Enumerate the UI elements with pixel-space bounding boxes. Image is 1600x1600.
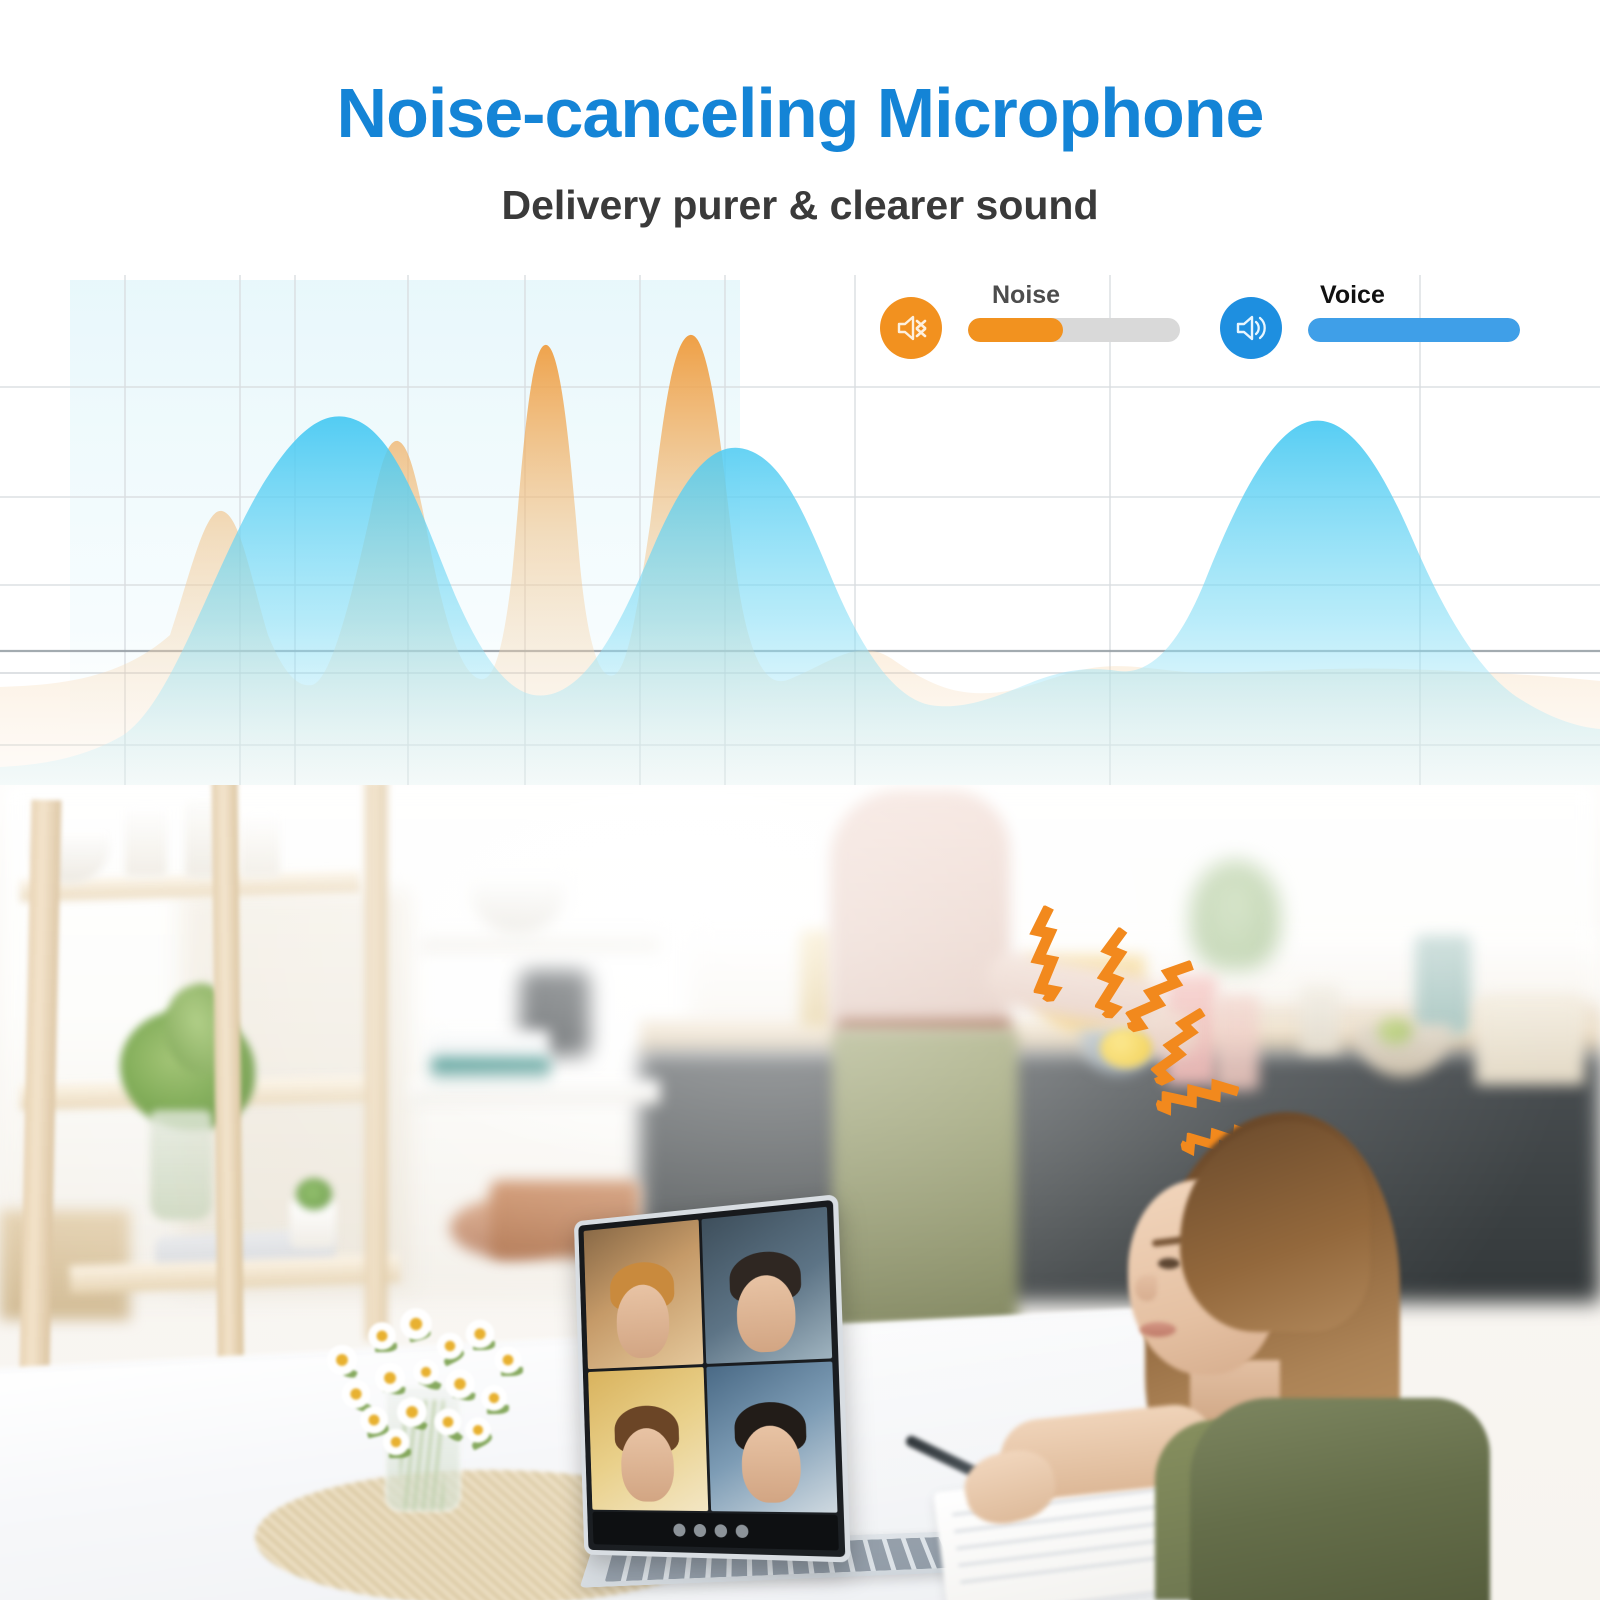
voice-meter: Voice xyxy=(1220,275,1530,375)
daisy-flower xyxy=(383,1429,409,1455)
daisy-flower xyxy=(327,1345,357,1375)
product-feature-banner: Noise-canceling Microphone Delivery pure… xyxy=(0,0,1600,1600)
daisy-flower xyxy=(465,1417,490,1442)
mic-toggle-icon[interactable] xyxy=(673,1523,685,1536)
daisy-flower xyxy=(466,1320,495,1349)
girl-eye xyxy=(1158,1258,1180,1269)
voice-label: Voice xyxy=(1320,283,1385,308)
daisy-flower xyxy=(368,1322,396,1350)
camera-toggle-icon[interactable] xyxy=(693,1523,706,1536)
plate-stack xyxy=(430,1030,550,1082)
voice-level-track[interactable] xyxy=(1308,318,1520,342)
daisy-flower xyxy=(445,1369,474,1398)
page-title: Noise-canceling Microphone xyxy=(0,78,1600,148)
white-shelf-upper xyxy=(420,930,660,952)
daisy-flower xyxy=(481,1385,507,1411)
bread-box xyxy=(1475,995,1585,1085)
laptop-screen[interactable] xyxy=(574,1194,851,1562)
noise-meter: Noise xyxy=(880,275,1190,375)
participants-icon[interactable] xyxy=(714,1524,727,1537)
background-plant xyxy=(1190,860,1280,970)
daisy-flower xyxy=(413,1359,439,1385)
daisy-flower xyxy=(495,1347,522,1374)
mini-plant xyxy=(296,1178,332,1210)
daisy-flower xyxy=(375,1363,405,1393)
white-cup xyxy=(125,805,167,877)
daisy-flower xyxy=(437,1333,463,1359)
call-participant-tile[interactable] xyxy=(706,1361,838,1513)
end-call-icon[interactable] xyxy=(735,1524,748,1537)
white-shelf-lower xyxy=(410,1080,660,1104)
green-fruit xyxy=(1378,1018,1412,1044)
noise-level-fill xyxy=(968,318,1063,342)
daisy-bouquet xyxy=(315,1305,530,1435)
shelf-plant-vase xyxy=(150,1110,212,1220)
voice-level-fill xyxy=(1308,318,1520,342)
call-participant-tile[interactable] xyxy=(701,1207,832,1364)
teal-jug xyxy=(1415,935,1471,1035)
white-jar-second xyxy=(240,812,280,878)
daisy-flower xyxy=(342,1380,371,1409)
shelf-post-right xyxy=(365,780,387,1340)
speaker-muted-icon xyxy=(880,297,942,359)
header-section: Noise-canceling Microphone Delivery pure… xyxy=(0,0,1600,275)
daisy-flower xyxy=(400,1308,432,1340)
oil-bottle xyxy=(800,930,834,1028)
noise-label: Noise xyxy=(992,283,1060,308)
call-control-bar xyxy=(592,1512,838,1551)
girl-lips xyxy=(1140,1322,1176,1337)
speaker-waves-icon xyxy=(1220,297,1282,359)
girl-nose xyxy=(1135,1275,1157,1301)
call-participant-tile[interactable] xyxy=(588,1367,708,1512)
teal-plate xyxy=(432,1058,550,1072)
call-participant-tile[interactable] xyxy=(584,1220,703,1369)
noise-level-track[interactable] xyxy=(968,318,1180,342)
person-torso xyxy=(830,790,1010,1035)
girl-shirt xyxy=(1190,1398,1490,1600)
person-pants xyxy=(832,1030,1018,1330)
video-call-grid xyxy=(584,1207,838,1513)
page-subtitle: Delivery purer & clearer sound xyxy=(0,185,1600,226)
daisy-flower xyxy=(360,1406,388,1434)
audio-level-meters: Noise Voice xyxy=(880,275,1530,375)
daisy-flower xyxy=(397,1397,427,1427)
small-jar xyxy=(1300,985,1340,1053)
daisy-flower xyxy=(435,1409,462,1436)
